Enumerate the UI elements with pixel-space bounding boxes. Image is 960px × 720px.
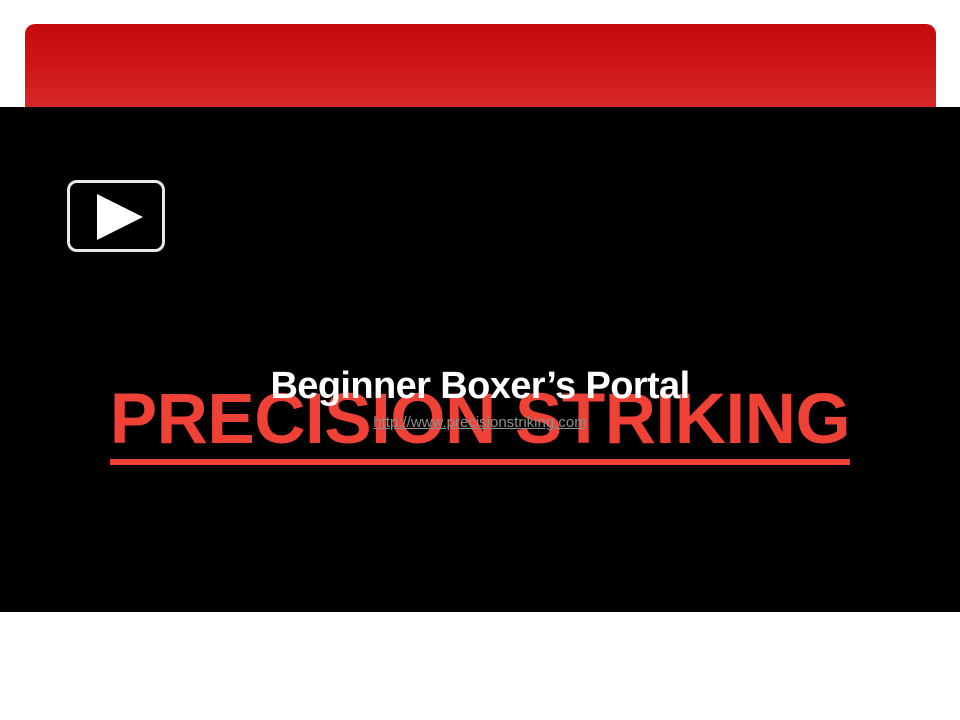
presentation-slide: PRECISION STRIKING Beginner Boxer’s Port… bbox=[0, 0, 960, 720]
play-triangle-icon bbox=[97, 194, 143, 240]
header-banner bbox=[25, 24, 936, 108]
play-button[interactable] bbox=[67, 180, 165, 252]
page-subtitle: Beginner Boxer’s Portal bbox=[0, 363, 960, 409]
site-url: http://www.precisionstriking.com bbox=[0, 413, 960, 433]
video-stage: PRECISION STRIKING Beginner Boxer’s Port… bbox=[0, 107, 960, 612]
site-url-link[interactable]: http://www.precisionstriking.com bbox=[373, 414, 586, 431]
